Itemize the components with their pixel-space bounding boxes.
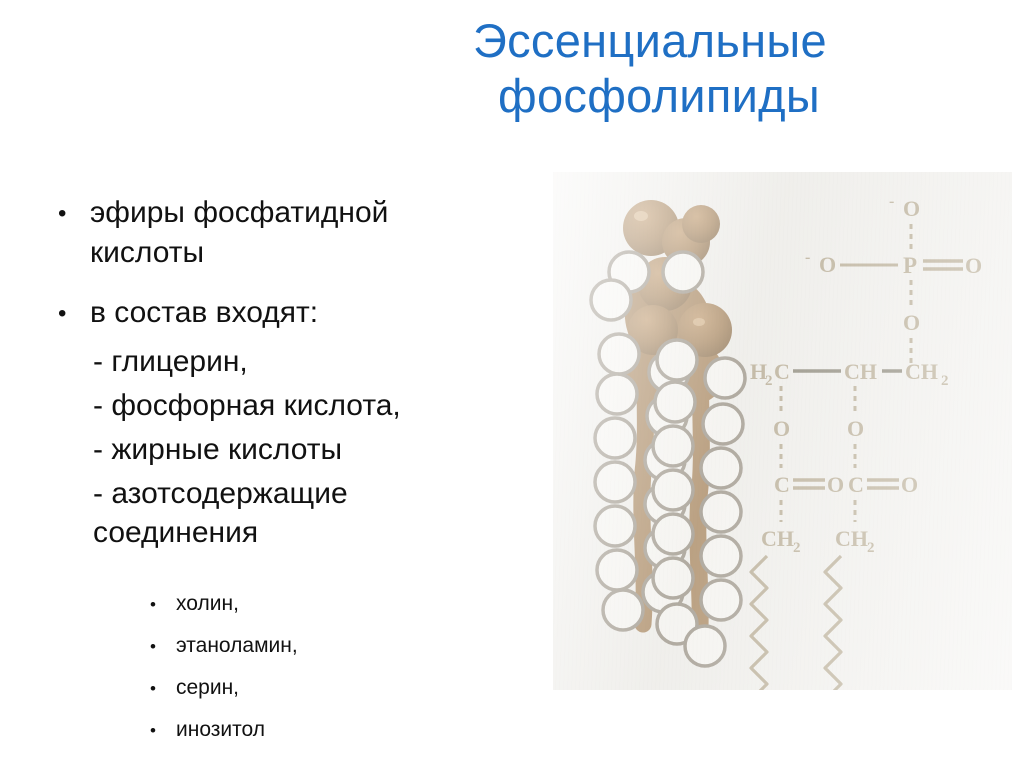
chain-circle: [591, 280, 631, 320]
sub-list-item-label: инозитол: [176, 717, 265, 742]
chain-circle: [597, 550, 637, 590]
chain-circle: [597, 374, 637, 414]
chain-circle: [703, 404, 743, 444]
label-glycerol-c3-sub: 2: [941, 373, 949, 389]
chain-circle: [701, 492, 741, 532]
page-title: Эссенциальные фосфолипиды: [330, 14, 970, 124]
chain-circle: [705, 358, 745, 398]
sub-list-item: • серин,: [150, 675, 239, 700]
chain-circle: [595, 418, 635, 458]
list-item: • эфиры фосфатидной кислоты: [58, 193, 498, 273]
label-methylene-right-sub: 2: [867, 540, 875, 556]
label-carbonyl-oxygen-right: O: [901, 472, 918, 497]
chain-circle: [701, 448, 741, 488]
chain-circle: [653, 470, 693, 510]
bullet-icon: •: [58, 293, 90, 326]
dash-list-item: - глицерин,: [93, 342, 523, 381]
chain-circle: [653, 426, 693, 466]
sub-list-item-label: холин,: [176, 591, 239, 616]
dash-list-item: - жирные кислоты: [93, 430, 523, 469]
chain-circle: [603, 590, 643, 630]
sub-list-item-label: этаноламин,: [176, 633, 298, 658]
chain-circle: [595, 506, 635, 546]
bullet-icon: •: [150, 638, 176, 655]
chain-circle: [701, 536, 741, 576]
sub-list-item: • этаноламин,: [150, 633, 298, 658]
chain-circle: [685, 626, 725, 666]
chain-circle: [595, 462, 635, 502]
label-methylene-left: CH: [761, 526, 794, 551]
bullet-icon: •: [150, 596, 176, 613]
label-carbonyl-oxygen-left: O: [827, 472, 844, 497]
label-phosphate-right-oxygen: O: [965, 253, 982, 278]
bullet-icon: •: [150, 680, 176, 697]
label-phosphate-left-charge: -: [805, 249, 810, 266]
page-title-line-2: фосфолипиды: [330, 69, 970, 124]
chain-circle: [653, 514, 693, 554]
dash-list-item: - фосфорная кислота,: [93, 386, 523, 425]
label-glycerol-c1-c: C: [774, 359, 790, 384]
sub-list-item: • инозитол: [150, 717, 265, 742]
label-glycerol-c3: CH: [905, 359, 938, 384]
label-phosphate-left-oxygen: O: [819, 252, 836, 277]
label-methylene-left-sub: 2: [793, 540, 801, 556]
label-glycerol-c1-sub: 2: [765, 373, 773, 389]
label-phosphorus: P: [903, 253, 917, 278]
label-carbonyl-carbon-left: C: [774, 472, 790, 497]
label-glycerol-c2: CH: [844, 359, 877, 384]
list-item-label: эфиры фосфатидной кислоты: [90, 193, 498, 273]
chain-circle: [657, 340, 697, 380]
chain-circle: [653, 558, 693, 598]
chain-circle: [599, 334, 639, 374]
sub-list-item-label: серин,: [176, 675, 239, 700]
list-item-label: в состав входят:: [90, 293, 498, 333]
label-ester-oxygen-right: O: [847, 416, 864, 441]
bullet-icon: •: [150, 722, 176, 739]
phospholipid-structure-image: O - O - P O O H 2 C CH CH 2: [553, 172, 1012, 690]
label-methylene-right: CH: [835, 526, 868, 551]
label-phosphate-top-oxygen: O: [903, 196, 920, 221]
head-sphere: [682, 205, 720, 243]
bullet-icon: •: [58, 193, 90, 226]
sub-list-item: • холин,: [150, 591, 239, 616]
list-item: • в состав входят:: [58, 293, 498, 333]
label-phosphate-bottom-oxygen: O: [903, 310, 920, 335]
label-carbonyl-carbon-right: C: [848, 472, 864, 497]
label-phosphate-top-charge: -: [889, 193, 894, 210]
chain-circle: [701, 580, 741, 620]
label-ester-oxygen-left: O: [773, 416, 790, 441]
chain-circle: [655, 382, 695, 422]
content-column: • эфиры фосфатидной кислоты • в состав в…: [0, 178, 545, 767]
page-title-line-1: Эссенциальные: [330, 14, 970, 69]
chain-circle: [663, 252, 703, 292]
dash-list-item: - азотсодержащие соединения: [93, 474, 443, 552]
